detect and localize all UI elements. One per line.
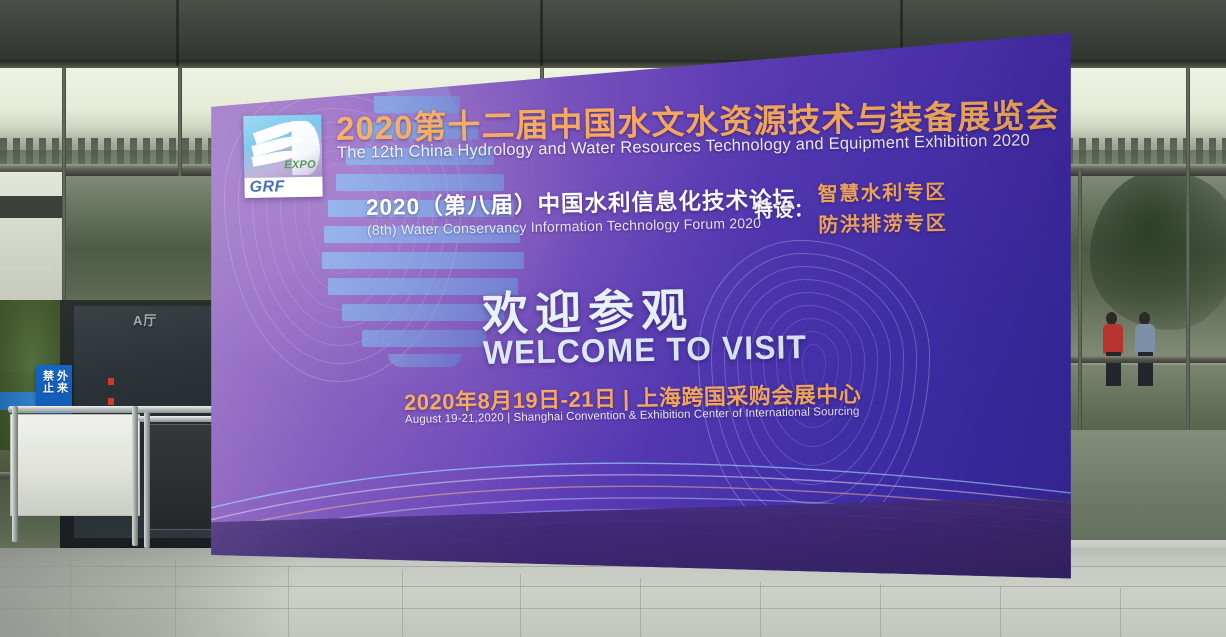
window-mullion (178, 66, 182, 176)
barrier-rail (8, 406, 228, 413)
logo-subwordmark: EXPO (284, 159, 316, 172)
soffit-seam (540, 0, 543, 66)
hall-label: A厅 (133, 310, 157, 329)
barrier-panel (10, 414, 140, 516)
logo-wordmark: GRF (249, 178, 285, 197)
photo-scene: A厅 外来 禁止 (0, 0, 1226, 637)
soffit-seam (176, 0, 179, 66)
wall-stripe (0, 196, 62, 218)
wall-stripe (0, 262, 52, 271)
indicator-light (108, 378, 114, 385)
barrier-post (132, 406, 138, 546)
reflected-tree (1090, 170, 1226, 330)
sign-text-line: 禁止 (41, 370, 54, 394)
sign-text-line: 外来 (55, 370, 68, 394)
indicator-light (108, 398, 114, 405)
barrier-post (144, 412, 150, 548)
special-zone-item: 智慧水利专区 (817, 175, 947, 206)
special-zones-block: 特设： 智慧水利专区 防洪排涝专区 (753, 175, 947, 239)
barrier-post (12, 406, 18, 542)
welcome-heading-en: WELCOME TO VISIT (483, 328, 808, 372)
grf-expo-logo: GRF EXPO (243, 115, 322, 198)
exhibition-banner: GRF EXPO 2020第十二届中国水文水资源技术与装备展览会 The 12t… (206, 24, 1076, 584)
special-zones-label: 特设： (754, 194, 815, 222)
special-zone-item: 防洪排涝专区 (818, 206, 948, 237)
